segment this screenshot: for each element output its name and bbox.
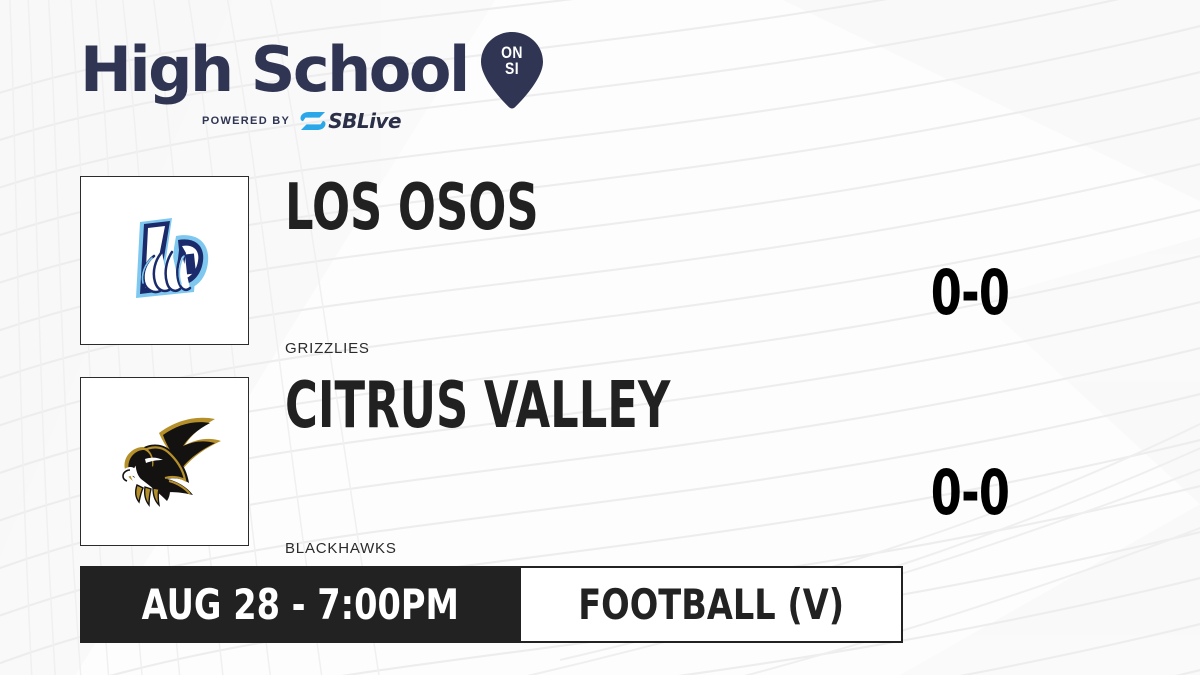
on-si-pin-label: ONSI <box>485 45 537 77</box>
away-team-logo <box>80 176 249 345</box>
on-si-line-2: SI <box>505 59 519 78</box>
game-sport-panel: FOOTBALL (V) <box>521 566 903 643</box>
game-datetime-panel: AUG 28 - 7:00PM <box>80 566 521 643</box>
game-datetime-text: AUG 28 - 7:00PM <box>142 584 459 626</box>
sblive-s-icon <box>299 110 327 132</box>
brand-wordmark: High School ONSI <box>80 34 510 106</box>
home-team-name: CITRUS VALLEY <box>285 374 670 438</box>
powered-by-row: POWERED BY SBLive <box>80 110 510 132</box>
matchup-graphic: High School ONSI POWERED BY SBLive <box>0 0 1200 675</box>
on-si-pin-icon: ONSI <box>480 31 544 109</box>
home-team-mascot: BLACKHAWKS <box>285 540 397 557</box>
game-sport-text: FOOTBALL (V) <box>578 584 844 626</box>
powered-by-label: POWERED BY <box>202 115 290 127</box>
game-info-bar: AUG 28 - 7:00PM FOOTBALL (V) <box>80 566 903 643</box>
away-team-record: 0-0 <box>912 262 1027 324</box>
home-team-logo <box>80 377 249 546</box>
los-osos-lo-claw-logo <box>136 218 208 298</box>
away-team-name: LOS OSOS <box>285 176 539 240</box>
away-team-mascot: GRIZZLIES <box>285 340 370 357</box>
sblive-logo: SBLive <box>299 110 401 132</box>
home-team-record: 0-0 <box>912 462 1027 524</box>
citrus-valley-blackhawk-logo <box>121 417 221 504</box>
brand-logo: High School ONSI POWERED BY SBLive <box>80 34 510 144</box>
sblive-wordmark: SBLive <box>328 111 401 131</box>
brand-title: High School <box>80 37 468 103</box>
